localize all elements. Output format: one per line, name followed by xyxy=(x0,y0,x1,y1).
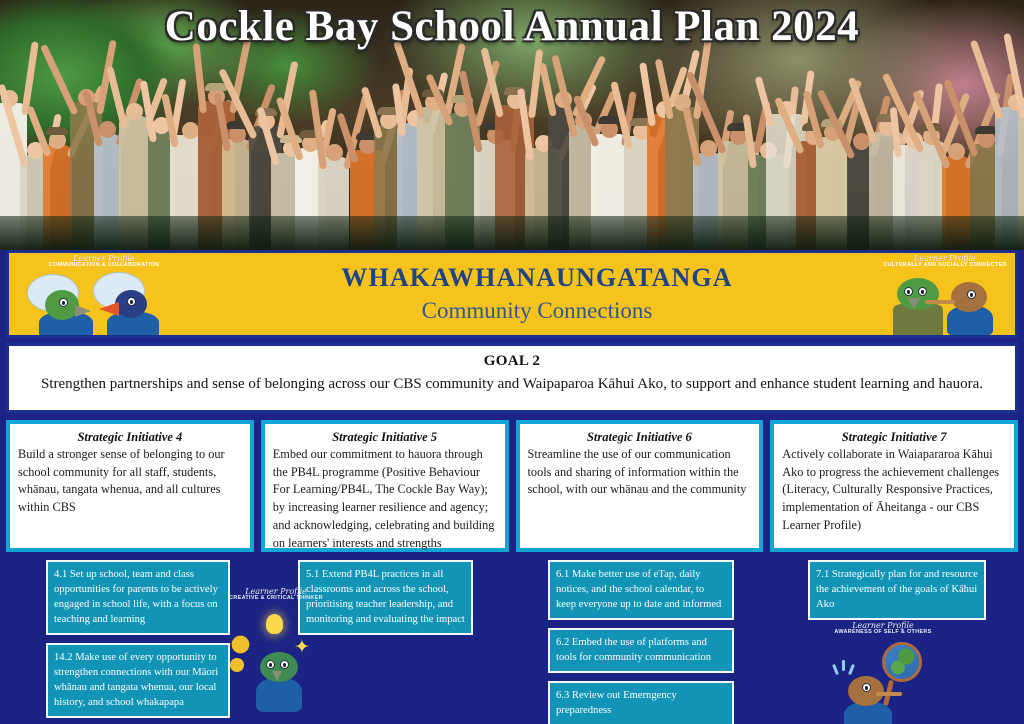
action-box-6-3: 6.3 Review out Emerngency preparedness xyxy=(548,681,734,724)
bird-eye xyxy=(59,298,68,307)
value-banner-subtitle: Community Connections xyxy=(199,296,875,326)
strategic-initiative-title: Strategic Initiative 4 xyxy=(18,430,242,445)
spark-icon-2 xyxy=(842,660,845,671)
value-banner: Learner Profile COMMUNICATION & COLLABOR… xyxy=(6,250,1018,338)
learner-profile-caption: Learner Profile AWARENESS OF SELF & OTHE… xyxy=(828,622,938,636)
bird-beak xyxy=(272,671,282,681)
bird-eye xyxy=(127,297,136,306)
photo-child-hat xyxy=(975,126,997,134)
bird-beak xyxy=(908,298,920,309)
action-box-6-1: 6.1 Make better use of eTap, daily notic… xyxy=(548,560,734,620)
photo-child-head xyxy=(126,103,143,120)
strategic-initiative-card-5: Strategic Initiative 5 Embed our commitm… xyxy=(261,420,509,552)
learner-profile-caption-right: Learner Profile CULTURALLY AND SOCIALLY … xyxy=(875,255,1015,269)
kiwi-icon xyxy=(842,674,898,724)
strategic-initiative-card-4: Strategic Initiative 4 Build a stronger … xyxy=(6,420,254,552)
strategic-initiative-body: Build a stronger sense of belonging to o… xyxy=(18,446,242,517)
strategic-initiative-title: Strategic Initiative 6 xyxy=(528,430,752,445)
kiwi-eye xyxy=(967,290,976,299)
photo-child-hat xyxy=(598,116,620,124)
learner-profile-caption: Learner Profile CREATIVE & CRITICAL THIN… xyxy=(228,588,324,602)
action-box-6-2: 6.2 Embed the use of platforms and tools… xyxy=(548,628,734,673)
learner-profile-awareness-self-others: Learner Profile AWARENESS OF SELF & OTHE… xyxy=(828,622,938,722)
strategic-initiative-card-7: Strategic Initiative 7 Actively collabor… xyxy=(770,420,1018,552)
goal-label: GOAL 2 xyxy=(9,353,1015,370)
green-bird-icon xyxy=(35,288,97,336)
learner-profile-caps-label: CULTURALLY AND SOCIALLY CONNECTED xyxy=(875,263,1015,269)
learner-profile-caption-left: Learner Profile COMMUNICATION & COLLABOR… xyxy=(9,255,199,269)
bird-eye-left xyxy=(266,660,275,669)
strategic-initiative-body: Streamline the use of our communication … xyxy=(528,446,752,499)
goal-box: GOAL 2 Strengthen partnerships and sense… xyxy=(6,343,1018,413)
strategic-initiative-body: Actively collaborate in Waiapararoa Kāhu… xyxy=(782,446,1006,535)
action-box-7-1: 7.1 Strategically plan for and resource … xyxy=(808,560,986,620)
page-title: Cockle Bay School Annual Plan 2024 xyxy=(0,2,1024,51)
action-column-4: 7.1 Strategically plan for and resource … xyxy=(808,560,986,628)
kiwi-beak xyxy=(925,300,955,304)
lightbulb-icon xyxy=(266,614,283,634)
photo-child-head xyxy=(99,121,116,138)
value-banner-text: WHAKAWHANAUNGATANGA Community Connection… xyxy=(199,262,875,326)
learner-profile-creative-critical-thinker: Learner Profile CREATIVE & CRITICAL THIN… xyxy=(228,588,324,718)
photo-child-raised-arm xyxy=(192,43,207,114)
bird-eye-right xyxy=(918,287,927,296)
annual-plan-page: Cockle Bay School Annual Plan 2024 Learn… xyxy=(0,0,1024,724)
photo-child-raised-arm xyxy=(639,62,656,126)
kiwi-beak xyxy=(876,692,902,696)
bird-beak xyxy=(99,302,119,316)
green-bird-icon xyxy=(254,650,306,712)
bird-body xyxy=(256,678,302,712)
strategic-initiative-card-6: Strategic Initiative 6 Streamline the us… xyxy=(516,420,764,552)
strategic-initiative-body: Embed our commitment to hauora through t… xyxy=(273,446,497,552)
learner-profile-caps-label: CREATIVE & CRITICAL THINKER xyxy=(228,596,324,602)
kiwi-icon xyxy=(939,282,1001,336)
action-column-3: 6.1 Make better use of eTap, daily notic… xyxy=(548,560,734,724)
photo-child-head xyxy=(948,143,965,160)
strategic-initiative-title: Strategic Initiative 7 xyxy=(782,430,1006,445)
bird-eye-left xyxy=(904,287,913,296)
photo-child-raised-arm xyxy=(528,49,543,118)
photo-child-raised-arm xyxy=(39,43,78,115)
action-column-2: 5.1 Extend PB4L practices in all classro… xyxy=(298,560,473,643)
photo-child-raised-arm xyxy=(106,66,128,128)
learner-profile-communication-collaboration: Learner Profile COMMUNICATION & COLLABOR… xyxy=(9,252,199,336)
goal-statement: Strengthen partnerships and sense of bel… xyxy=(9,376,1015,393)
action-box-5-1: 5.1 Extend PB4L practices in all classro… xyxy=(298,560,473,635)
gear-icon-2 xyxy=(232,660,242,670)
photo-child-hat xyxy=(46,127,68,135)
photo-child-raised-arm xyxy=(21,41,39,116)
kiwi-eye xyxy=(862,683,871,692)
kiwi-mirror-icon xyxy=(828,638,938,724)
spark-icon-1 xyxy=(832,664,839,675)
photo-child-head xyxy=(326,144,343,161)
bird-beak xyxy=(75,305,91,317)
blue-bird-icon xyxy=(101,286,163,336)
value-banner-title: WHAKAWHANAUNGATANGA xyxy=(199,262,875,295)
strategic-initiatives-row: Strategic Initiative 4 Build a stronger … xyxy=(6,420,1018,552)
header-photo-banner: Cockle Bay School Annual Plan 2024 xyxy=(0,0,1024,250)
action-column-1: 4.1 Set up school, team and class opport… xyxy=(46,560,230,724)
learner-profile-caps-label: COMMUNICATION & COLLABORATION xyxy=(9,263,199,269)
action-box-14-2: 14.2 Make use of every opportunity to st… xyxy=(46,643,230,718)
learner-profile-caps-label: AWARENESS OF SELF & OTHERS xyxy=(828,630,938,636)
learner-profile-culturally-socially-connected: Learner Profile CULTURALLY AND SOCIALLY … xyxy=(875,252,1015,336)
gear-icon-1 xyxy=(234,638,247,651)
bird-lightbulb-gears-icon: ✦ xyxy=(228,604,324,724)
bird-eye-right xyxy=(280,660,289,669)
action-box-4-1: 4.1 Set up school, team and class opport… xyxy=(46,560,230,635)
strategic-initiative-title: Strategic Initiative 5 xyxy=(273,430,497,445)
stage-floor xyxy=(0,216,1024,250)
